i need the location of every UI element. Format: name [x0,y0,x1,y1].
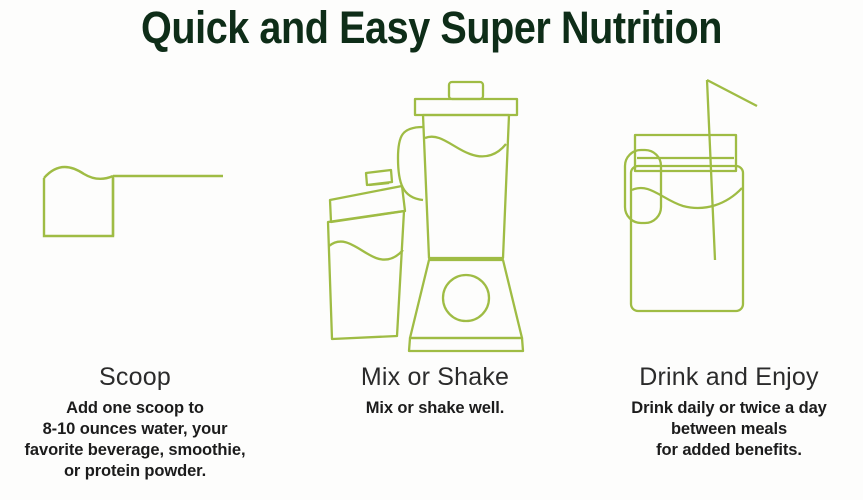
mix-heading: Mix or Shake [290,362,580,392]
scoop-art [0,70,270,355]
jar-body [631,166,743,311]
step-column-scoop: Scoop Add one scoop to 8-10 ounces water… [0,70,270,500]
jar-liquid-wave [632,188,742,208]
blender-foot [409,338,523,351]
mix-caption: Mix or Shake Mix or shake well. [290,362,580,419]
mix-art [290,70,580,355]
infographic-page: Quick and Easy Super Nutrition Scoop Add… [0,0,863,500]
step-column-drink: Drink and Enjoy Drink daily or twice a d… [595,70,863,500]
scoop-heading: Scoop [0,362,270,392]
drink-body-line: for added benefits. [595,440,863,461]
shaker-liquid-wave [329,242,403,260]
blender-liquid-wave [425,137,506,157]
blender-icon [398,82,523,351]
shaker-body [328,211,404,339]
mason-jar-with-straw-icon [595,70,863,355]
blender-cap [449,82,483,99]
drink-body-line: between meals [595,419,863,440]
scoop-body-line: 8-10 ounces water, your [0,419,270,440]
drink-body: Drink daily or twice a day between meals… [595,398,863,461]
scoop-icon [0,70,270,355]
step-column-mix: Mix or Shake Mix or shake well. [290,70,580,500]
scoop-powder-wave [44,167,113,179]
blender-knob [443,275,489,321]
shaker-bottle-icon [328,170,405,339]
drink-heading: Drink and Enjoy [595,362,863,392]
mix-body: Mix or shake well. [290,398,580,419]
drink-caption: Drink and Enjoy Drink daily or twice a d… [595,362,863,461]
blender-lid [415,99,517,115]
scoop-body-line: favorite beverage, smoothie, [0,440,270,461]
mix-icons [290,70,580,355]
mix-body-line: Mix or shake well. [290,398,580,419]
scoop-caption: Scoop Add one scoop to 8-10 ounces water… [0,362,270,482]
scoop-cup-body [44,178,113,236]
blender-base [410,260,522,338]
scoop-body-line: Add one scoop to [0,398,270,419]
scoop-body-line: or protein powder. [0,461,270,482]
scoop-body: Add one scoop to 8-10 ounces water, your… [0,398,270,482]
drink-body-line: Drink daily or twice a day [595,398,863,419]
drink-art [595,70,863,355]
page-title: Quick and Easy Super Nutrition [52,2,811,54]
